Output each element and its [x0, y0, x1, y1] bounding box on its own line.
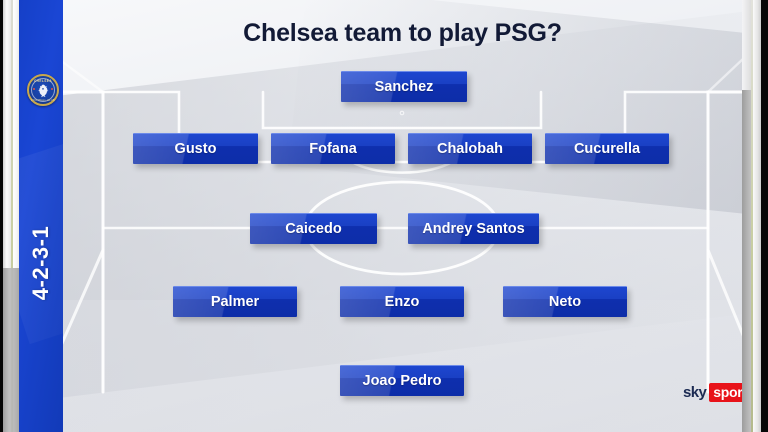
player-plate-andrey-santos[interactable]: Andrey Santos: [408, 213, 539, 244]
player-plate-gusto[interactable]: Gusto: [133, 133, 258, 164]
graphic-stage: CHELSEA FOOTBALL CLUB 4-2-3-1: [0, 0, 768, 432]
sky-sports-logo: sky sports: [683, 383, 742, 402]
player-plate-caicedo[interactable]: Caicedo: [250, 213, 377, 244]
team-sidebar: CHELSEA FOOTBALL CLUB 4-2-3-1: [19, 0, 63, 432]
player-plate-joao-pedro[interactable]: Joao Pedro: [340, 365, 464, 396]
player-name: Caicedo: [285, 221, 341, 237]
player-name: Sanchez: [375, 79, 434, 95]
chelsea-badge-icon: CHELSEA FOOTBALL CLUB: [27, 74, 59, 106]
player-plate-sanchez[interactable]: Sanchez: [341, 71, 467, 102]
player-plate-chalobah[interactable]: Chalobah: [408, 133, 532, 164]
player-plate-cucurella[interactable]: Cucurella: [545, 133, 669, 164]
badge-top-text: CHELSEA: [29, 79, 57, 83]
left-edge-grey-block: [3, 268, 19, 432]
badge-bottom-text: FOOTBALL CLUB: [29, 99, 57, 102]
player-plate-enzo[interactable]: Enzo: [340, 286, 464, 317]
sports-wordmark: sports: [709, 383, 742, 402]
right-edge-inner-strip: [753, 0, 761, 432]
sky-wordmark: sky: [683, 384, 706, 401]
player-plate-neto[interactable]: Neto: [503, 286, 627, 317]
player-name: Enzo: [385, 294, 420, 310]
player-name: Cucurella: [574, 141, 640, 157]
lion-rampant-icon: [37, 83, 50, 98]
player-name: Palmer: [211, 294, 259, 310]
right-edge-grey-block: [742, 90, 751, 432]
player-name: Joao Pedro: [363, 373, 442, 389]
page-title: Chelsea team to play PSG?: [63, 19, 742, 48]
player-name: Gusto: [175, 141, 217, 157]
player-plate-fofana[interactable]: Fofana: [271, 133, 395, 164]
player-name: Andrey Santos: [422, 221, 524, 237]
player-name: Fofana: [309, 141, 357, 157]
player-name: Chalobah: [437, 141, 503, 157]
player-plate-palmer[interactable]: Palmer: [173, 286, 297, 317]
right-edge-black-strip: [761, 0, 768, 432]
formation-label: 4-2-3-1: [28, 226, 54, 300]
player-name: Neto: [549, 294, 581, 310]
pitch-panel: Chelsea team to play PSG? Sanchez Gusto …: [63, 0, 742, 432]
